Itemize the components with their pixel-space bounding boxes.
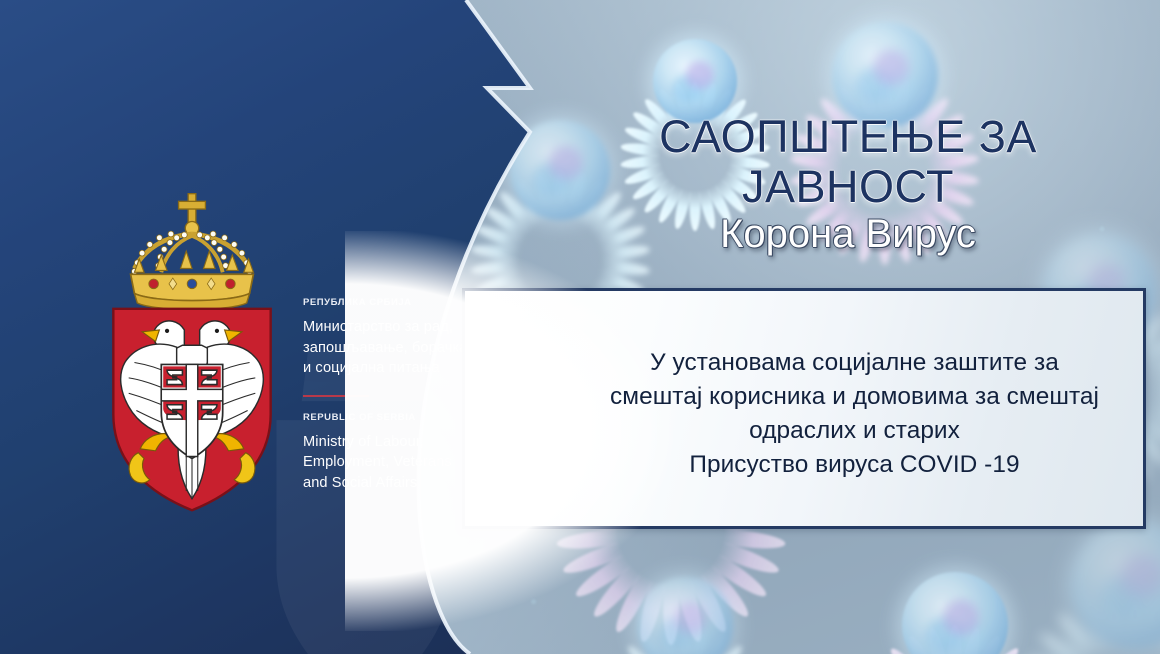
headline-primary: САОПШТЕЊЕ ЗА ЈАВНОСТ: [548, 112, 1148, 212]
poster-headline: САОПШТЕЊЕ ЗА ЈАВНОСТ Корона Вирус: [548, 112, 1148, 258]
red-divider: [303, 395, 369, 397]
announcement-line-3: одраслих и старих: [576, 414, 1133, 448]
crown-icon: [131, 194, 254, 310]
coat-of-arms-emblem: [96, 186, 288, 516]
announcement-line-1: У установама социјалне заштите за: [576, 346, 1133, 380]
announcement-text: У установама социјалне заштите за смешта…: [576, 346, 1133, 482]
virus-particle: [600, 540, 770, 654]
announcement-line-2: смештај корисника и домовима за смештај: [576, 380, 1133, 414]
announcement-card: У установама социјалне заштите за смешта…: [462, 288, 1146, 529]
headline-secondary: Корона Вирус: [548, 210, 1148, 258]
poster-canvas: РЕПУБЛИКА СРБИЈА Министарство за рад, за…: [0, 0, 1160, 654]
announcement-line-4: Присуство вируса COVID -19: [576, 448, 1133, 482]
